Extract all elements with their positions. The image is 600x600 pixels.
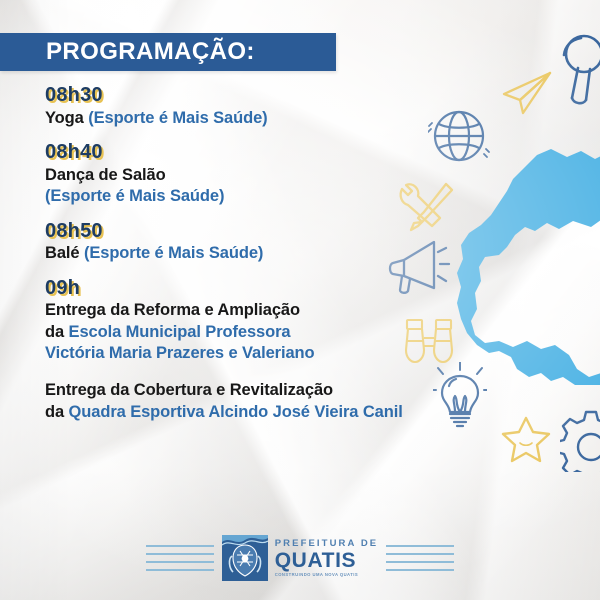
logo-name: QUATIS (275, 550, 378, 571)
description-accent-text: Quadra Esportiva Alcindo José Vieira Can… (69, 403, 403, 421)
decorative-rule (386, 553, 454, 555)
decorative-rules-right (386, 545, 454, 571)
schedule-time: 08h30 (45, 84, 515, 108)
schedule-description-line: (Esporte é Mais Saúde) (45, 186, 515, 207)
decorative-rule (146, 561, 214, 563)
footer: PREFEITURA DE QUATIS CONSTRUINDO UMA NOV… (0, 529, 600, 587)
schedule-sub-block: Entrega da Cobertura e Revitalizaçãoda Q… (45, 380, 515, 423)
description-accent-text: (Esporte é Mais Saúde) (88, 109, 267, 127)
decorative-rule (386, 569, 454, 571)
description-text: Balé (45, 244, 84, 262)
decorative-rule (146, 545, 214, 547)
schedule-description-line: Entrega da Cobertura e Revitalização (45, 380, 515, 401)
description-text: da (45, 323, 69, 341)
description-accent-text: Escola Municipal Professora (69, 323, 291, 341)
schedule-item: 08h30Yoga (Esporte é Mais Saúde) (45, 84, 515, 129)
schedule-description-line: Dança de Salão (45, 165, 515, 186)
description-accent-text: Victória Maria Prazeres e Valeriano (45, 344, 315, 362)
schedule-item: 08h50Balé (Esporte é Mais Saúde) (45, 220, 515, 265)
schedule-item: 09hEntrega da Reforma e Ampliaçãoda Esco… (45, 277, 515, 424)
gear-icon (560, 410, 600, 472)
schedule-description-line: da Escola Municipal Professora (45, 322, 515, 343)
schedule-description-line: Victória Maria Prazeres e Valeriano (45, 343, 515, 364)
logo-tagline: CONSTRUINDO UMA NOVA QUATIS (275, 573, 378, 577)
schedule-item: 08h40Dança de Salão(Esporte é Mais Saúde… (45, 141, 515, 207)
decorative-rule (146, 553, 214, 555)
decorative-rule (146, 569, 214, 571)
schedule-time: 09h (45, 277, 515, 301)
programacao-banner: PROGRAMAÇÃO: (0, 33, 336, 71)
schedule-description-line: Balé (Esporte é Mais Saúde) (45, 243, 515, 264)
decorative-rules-left (146, 545, 214, 571)
decorative-rule (386, 545, 454, 547)
schedule-time: 08h50 (45, 220, 515, 244)
magnifier-icon (556, 32, 600, 110)
description-text: Yoga (45, 109, 88, 127)
description-text: Dança de Salão (45, 166, 166, 184)
schedule-description-line: Yoga (Esporte é Mais Saúde) (45, 108, 515, 129)
prefeitura-quatis-logo: PREFEITURA DE QUATIS CONSTRUINDO UMA NOV… (222, 535, 378, 581)
schedule-description-line: Entrega da Reforma e Ampliação (45, 300, 515, 321)
description-text: Entrega da Cobertura e Revitalização (45, 381, 333, 399)
description-accent-text: (Esporte é Mais Saúde) (84, 244, 263, 262)
schedule-time: 08h40 (45, 141, 515, 165)
description-text: Entrega da Reforma e Ampliação (45, 301, 300, 319)
page-title: PROGRAMAÇÃO: (0, 40, 255, 64)
description-text: da (45, 403, 69, 421)
schedule-list: 08h30Yoga (Esporte é Mais Saúde)08h40Dan… (45, 84, 515, 423)
poster-canvas: PROGRAMAÇÃO: 08h30Yoga (Esporte é Mais S… (0, 0, 600, 600)
schedule-description-line: da Quadra Esportiva Alcindo José Vieira … (45, 402, 515, 423)
decorative-rule (386, 561, 454, 563)
description-accent-text: (Esporte é Mais Saúde) (45, 187, 224, 205)
logo-prefix: PREFEITURA DE (275, 539, 378, 549)
coat-of-arms-icon (222, 535, 268, 581)
